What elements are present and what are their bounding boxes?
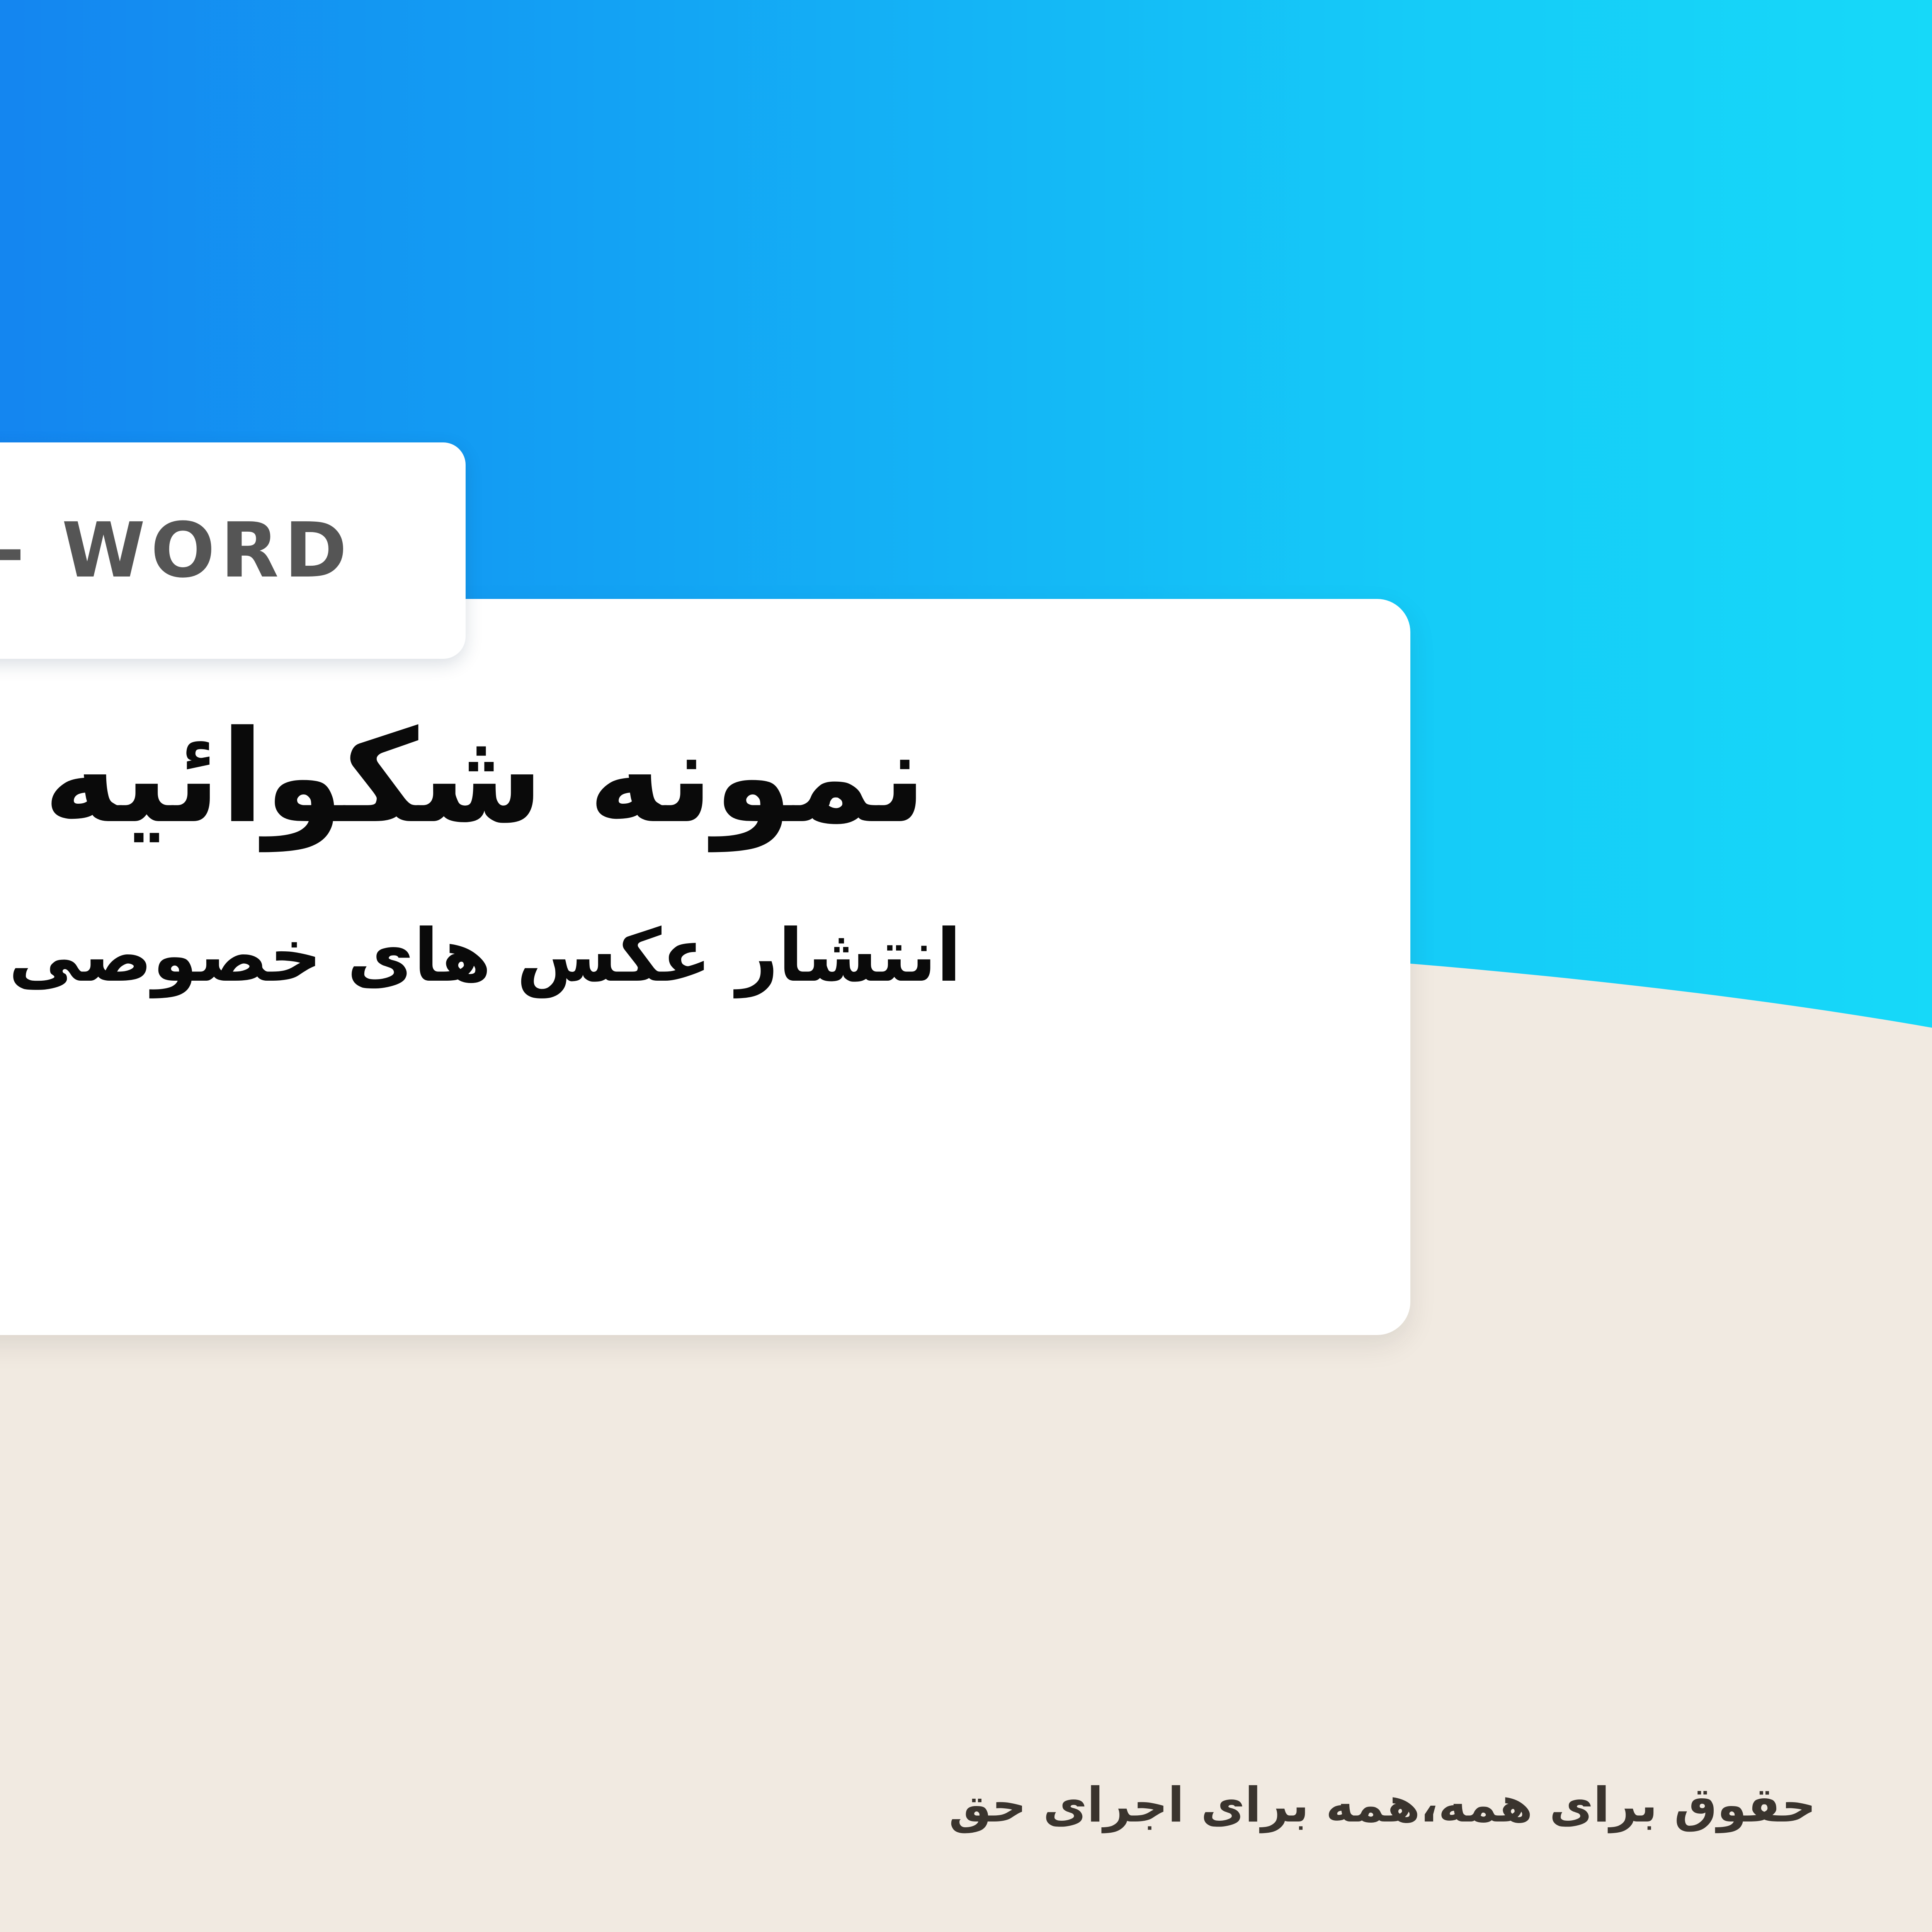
- page-title: نمونه شکوائیه: [43, 696, 927, 859]
- footer-slogan: حقوق برای همه،همه برای اجرای حق: [949, 1777, 1816, 1833]
- page-subtitle: انتشار عکس های خصوصی: [9, 909, 961, 1003]
- cover-canvas: PDF - WORD نمونه شکوائیه انتشار عکس های …: [0, 0, 1932, 1932]
- format-badge-label: PDF - WORD: [0, 513, 352, 588]
- format-badge: PDF - WORD: [0, 442, 466, 659]
- title-card: نمونه شکوائیه انتشار عکس های خصوصی: [0, 599, 1410, 1335]
